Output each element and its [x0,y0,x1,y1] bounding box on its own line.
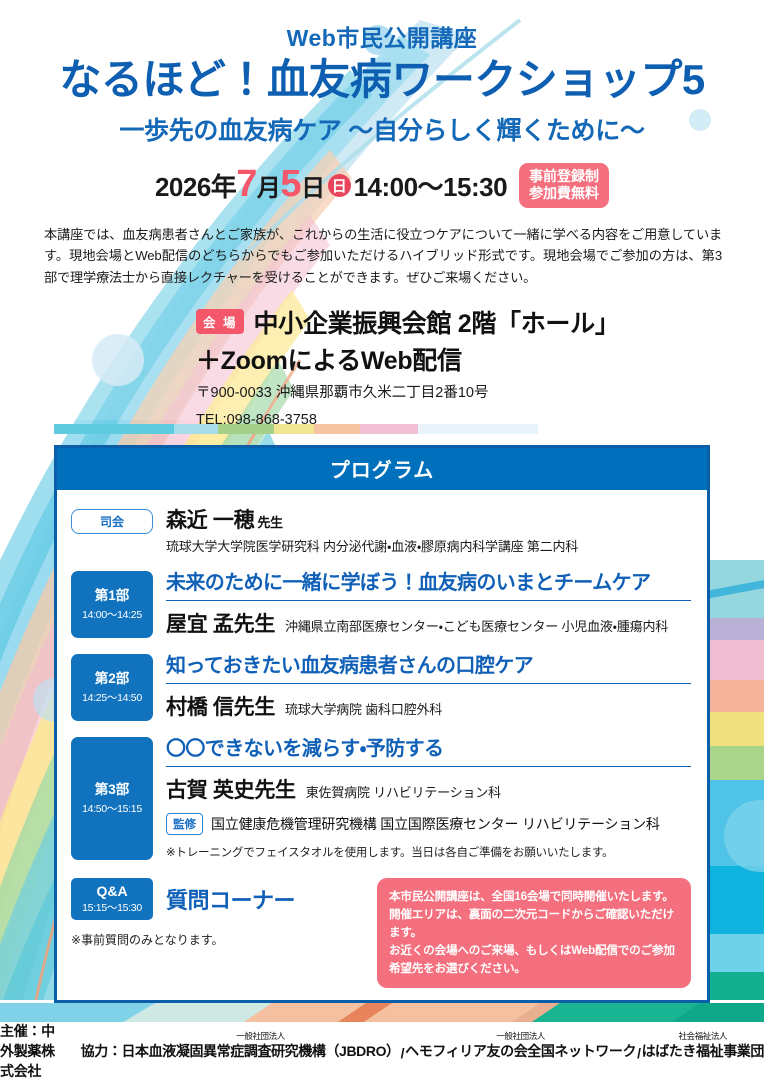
date-day-number: 5 [280,167,301,201]
session-3-badge: 第3部 14:50～15:15 [71,737,153,860]
qa-label: Q&A [71,883,153,899]
moderator-name: 森近 一穂 [166,509,254,532]
session-3-title: 〇〇できないを減らす・予防する [166,737,691,761]
session-2-title: 知っておきたい血友病患者さんの口腔ケア [166,654,691,678]
session-2-time: 14:25～14:50 [71,690,153,705]
notice-line-3: お近くの会場へのご来場、もしくはWeb配信でのご参加希望先をお選びください。 [389,942,679,978]
poster-root: Web市民公開講座 なるほど！血友病ワークショップ5 一歩先の血友病ケア ～自分… [0,0,764,1080]
session-3-speaker-line: 古賀 英史先生 東佐賀病院 リハビリテーション科 [166,774,691,804]
venue-main-line: 会 場 中小企業振興会館 2階「ホール」 [196,304,764,340]
session-3-affiliation: 東佐賀病院 リハビリテーション科 [306,782,501,801]
nationwide-notice: 本市民公開講座は、全国16会場で同時開催いたします。 開催エリアは、裏面の二次元… [377,878,691,988]
session-2-affiliation: 琉球大学病院 歯科口腔外科 [285,699,442,718]
coop-org-2: 一般社団法人 ヘモフィリア友の会全国ネットワーク [405,1041,636,1061]
coop-separator-2: / [637,1045,641,1061]
poster-footer: 主催：中外製薬株式会社 協力： 一般社団法人 日本血液凝固異常症調査研究機構（J… [0,1022,764,1080]
qa-title: 質問コーナー [166,883,295,915]
session-3-time: 14:50～15:15 [71,801,153,816]
session-1-time: 14:00～14:25 [71,607,153,622]
notice-line-2: 開催エリアは、裏面の二次元コードからご確認いただけます。 [389,906,679,942]
supervise-badge: 監修 [166,813,203,835]
fee-badge-line2: 参加費無料 [529,185,599,203]
session-3-honorific: 先生 [254,774,295,804]
qa-heading-line: Q&A 15:15～15:30 質問コーナー [71,878,371,920]
coop-org-3-name: はばたき福祉事業団 [642,1043,764,1059]
date-month-number: 7 [236,167,257,201]
moderator-badge: 司会 [71,509,153,534]
session-3-speaker: 古賀 英史 [166,774,254,804]
session-1-speaker: 屋宜 孟 [166,608,234,638]
session-3-note: ※トレーニングでフェイスタオルを使用します。当日は各自ご準備をお願いいたします。 [166,844,691,860]
date-month-unit: 月 [257,168,281,203]
moderator-honorific: 先生 [257,515,282,530]
date-day-unit: 日 [301,168,325,203]
session-1-title: 未来のために一緒に学ぼう！血友病のいまとチームケア [166,571,691,595]
moderator-details: 森近 一穂先生 琉球大学大学院医学研究科 内分泌代謝・血液・膠原病内科学講座 第… [153,504,578,555]
coop-label: 協力： [81,1041,122,1061]
cooperating-organizations: 協力： 一般社団法人 日本血液凝固異常症調査研究機構（JBDRO） / 一般社団… [81,1041,764,1061]
event-description: 本講座では、血友病患者さんとご家族が、これからの生活に役立つケアについて一緒に学… [44,224,722,288]
session-3-supervise-line: 監修 国立健康危機管理研究機構 国立国際医療センター リハビリテーション科 [166,813,691,835]
session-3-details: 〇〇できないを減らす・予防する 古賀 英史先生 東佐賀病院 リハビリテーション科… [153,737,691,860]
coop-org-2-name: ヘモフィリア友の会全国ネットワーク [405,1043,636,1059]
session-1-details: 未来のために一緒に学ぼう！血友病のいまとチームケア 屋宜 孟先生 沖縄県立南部医… [153,571,691,638]
program-body: 司会 森近 一穂先生 琉球大学大学院医学研究科 内分泌代謝・血液・膠原病内科学講… [57,490,707,1000]
coop-org-2-prefix: 一般社団法人 [496,1030,545,1042]
qa-note: ※事前質問のみとなります。 [71,931,371,948]
venue-block: 会 場 中小企業振興会館 2階「ホール」 ＋ZoomによるWeb配信 〒900-… [0,304,764,431]
coop-separator-1: / [401,1045,405,1061]
coop-org-3-prefix: 社会福祉法人 [678,1030,727,1042]
moderator-affiliation: 琉球大学大学院医学研究科 内分泌代謝・血液・膠原病内科学講座 第二内科 [166,536,578,555]
session-1-divider [166,600,691,601]
session-2-speaker: 村橋 信 [166,691,234,721]
venue-web-line: ＋ZoomによるWeb配信 [196,341,764,377]
moderator-row: 司会 森近 一穂先生 琉球大学大学院医学研究科 内分泌代謝・血液・膠原病内科学講… [71,504,691,555]
venue-name: 中小企業振興会館 2階「ホール」 [253,304,619,340]
date-year: 2026年 [155,167,236,204]
session-1-affiliation: 沖縄県立南部医療センター・こども医療センター 小児血液・腫瘍内科 [285,616,668,635]
header-subtitle: 一歩先の血友病ケア ～自分らしく輝くために～ [0,111,764,147]
qa-row: Q&A 15:15～15:30 質問コーナー ※事前質問のみとなります。 本市民… [71,878,691,988]
supervise-text: 国立健康危機管理研究機構 国立国際医療センター リハビリテーション科 [211,814,660,834]
session-3-divider [166,766,691,767]
session-3-part: 第3部 [71,782,153,798]
venue-address: 〒900-0033 沖縄県那覇市久米二丁目2番10号 [196,383,764,404]
session-row-2: 第2部 14:25～14:50 知っておきたい血友病患者さんの口腔ケア 村橋 信… [71,654,691,721]
session-2-badge: 第2部 14:25～14:50 [71,654,153,721]
session-2-divider [166,683,691,684]
session-2-details: 知っておきたい血友病患者さんの口腔ケア 村橋 信先生 琉球大学病院 歯科口腔外科 [153,654,691,721]
session-row-1: 第1部 14:00～14:25 未来のために一緒に学ぼう！血友病のいまとチームケ… [71,571,691,638]
qa-badge: Q&A 15:15～15:30 [71,878,153,920]
qa-time: 15:15～15:30 [71,900,153,915]
date-row: 2026年 7 月 5 日 日 14:00～15:30 事前登録制 参加費無料 [0,163,764,208]
header-kicker: Web市民公開講座 [0,26,764,51]
coop-org-1-prefix: 一般社団法人 [236,1030,285,1042]
session-1-part: 第1部 [71,588,153,604]
session-2-part: 第2部 [71,671,153,687]
registration-fee-badge: 事前登録制 参加費無料 [519,163,609,208]
coop-org-1: 一般社団法人 日本血液凝固異常症調査研究機構（JBDRO） [121,1041,399,1061]
event-datetime: 2026年 7 月 5 日 日 14:00～15:30 [155,167,507,204]
coop-org-1-name: 日本血液凝固異常症調査研究機構（JBDRO） [121,1043,399,1059]
event-time: 14:00～15:30 [354,167,508,204]
fee-badge-line1: 事前登録制 [529,168,599,186]
weekday-badge: 日 [328,174,351,197]
program-heading: プログラム [57,448,707,490]
notice-line-1: 本市民公開講座は、全国16会場で同時開催いたします。 [389,888,679,906]
session-1-badge: 第1部 14:00～14:25 [71,571,153,638]
poster-header: Web市民公開講座 なるほど！血友病ワークショップ5 一歩先の血友病ケア ～自分… [0,0,764,147]
venue-telephone: TEL:098-868-3758 [196,410,764,431]
moderator-name-line: 森近 一穂先生 [166,504,578,534]
page-title: なるほど！血友病ワークショップ5 [0,55,764,105]
session-2-speaker-line: 村橋 信先生 琉球大学病院 歯科口腔外科 [166,691,691,721]
qa-left: Q&A 15:15～15:30 質問コーナー ※事前質問のみとなります。 [71,878,371,948]
session-1-honorific: 先生 [234,608,275,638]
venue-label-badge: 会 場 [196,309,244,334]
session-1-speaker-line: 屋宜 孟先生 沖縄県立南部医療センター・こども医療センター 小児血液・腫瘍内科 [166,608,691,638]
session-2-honorific: 先生 [234,691,275,721]
host-organization: 主催：中外製薬株式会社 [0,1021,59,1080]
program-box: プログラム 司会 森近 一穂先生 琉球大学大学院医学研究科 内分泌代謝・血液・膠… [54,445,710,1003]
session-row-3: 第3部 14:50～15:15 〇〇できないを減らす・予防する 古賀 英史先生 … [71,737,691,860]
coop-org-3: 社会福祉法人 はばたき福祉事業団 [642,1041,764,1061]
